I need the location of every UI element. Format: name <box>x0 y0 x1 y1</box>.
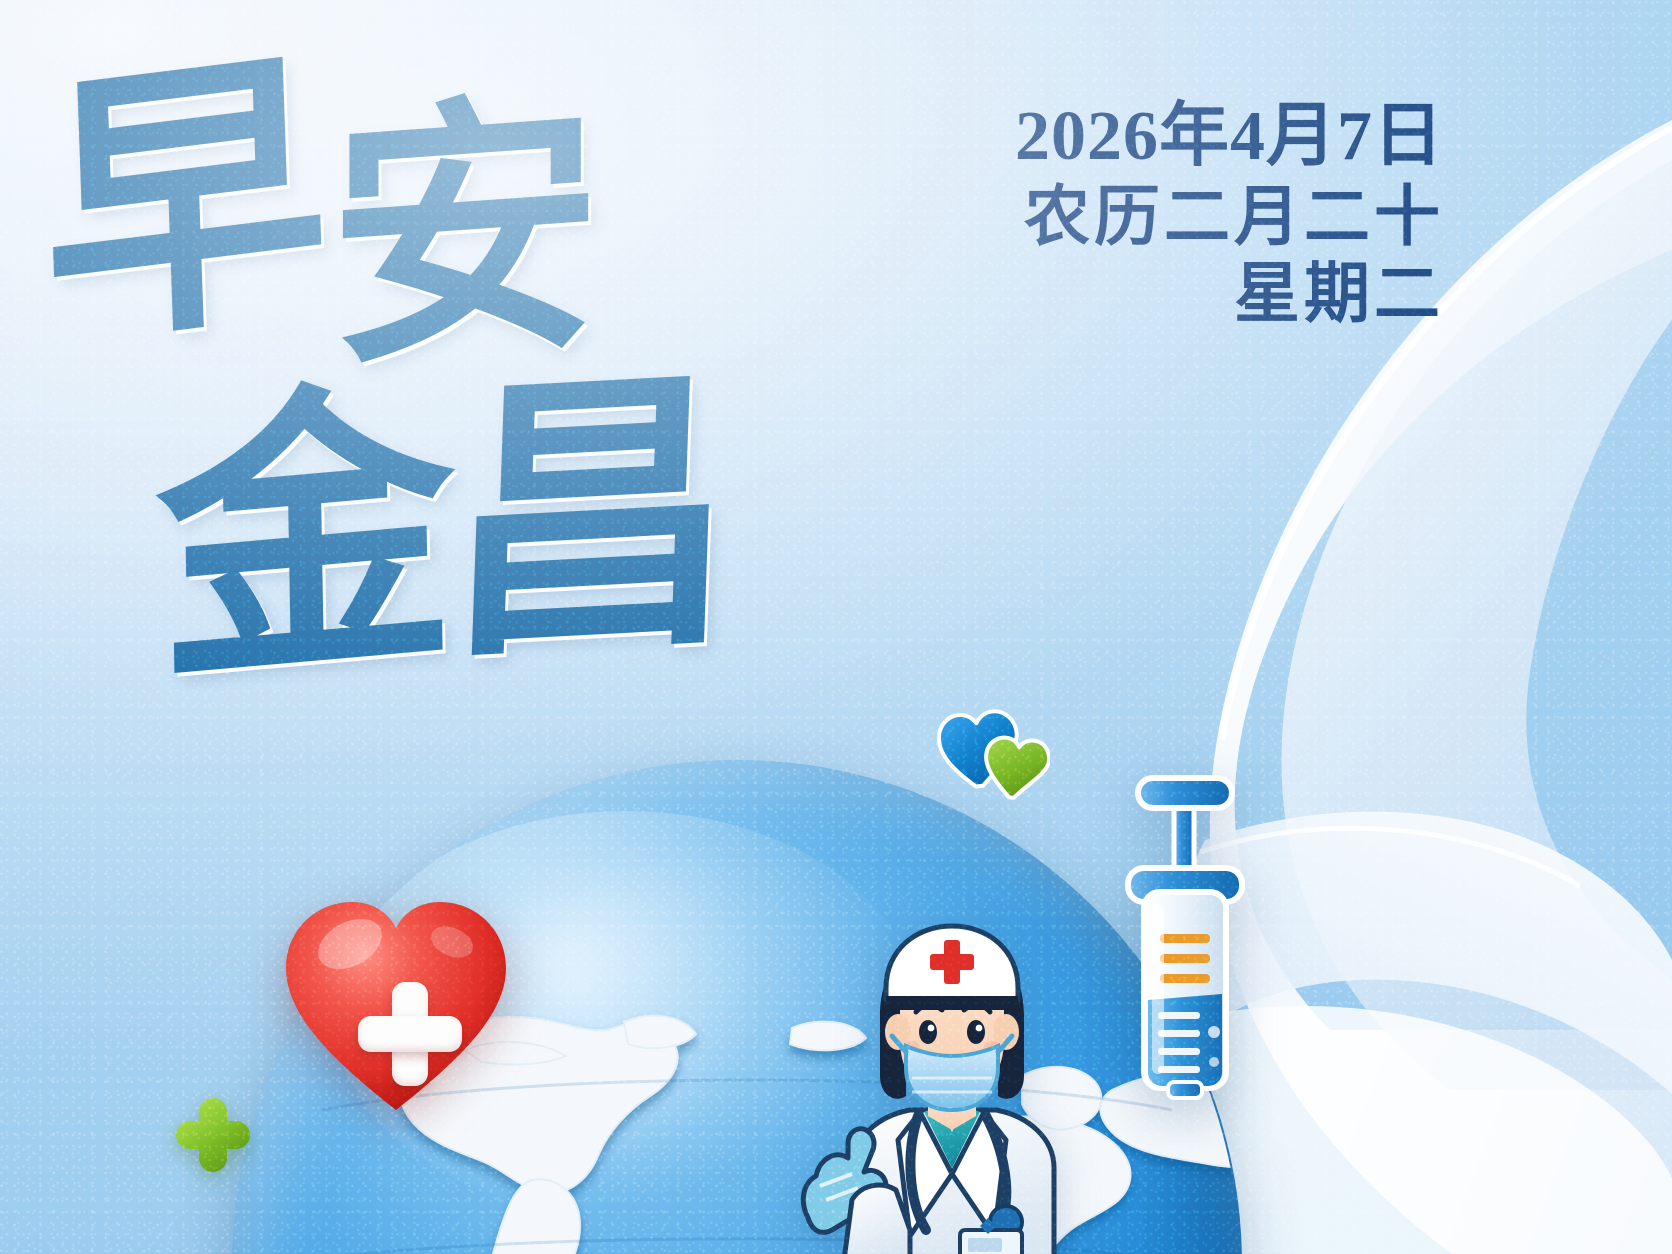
title-char-1: 早 <box>38 40 332 362</box>
syringe-icon <box>1094 764 1274 1104</box>
title-char-2: 安 <box>328 86 601 380</box>
date-weekday: 星期二 <box>1015 256 1444 334</box>
heart-with-medical-cross <box>276 886 516 1116</box>
page-title: 早 安 金 昌 <box>28 34 748 764</box>
date-solar: 2026年4月7日 <box>1015 96 1444 179</box>
title-char-4: 昌 <box>441 364 743 672</box>
greeting-poster: 早 安 金 昌 2026年4月7日 农历二月二十 星期二 <box>0 0 1672 1254</box>
date-lunar: 农历二月二十 <box>1015 179 1444 257</box>
syringe-graduations <box>1160 934 1210 983</box>
green-medical-cross-icon <box>176 1098 250 1172</box>
doctor-character <box>760 900 1140 1254</box>
title-char-3: 金 <box>154 373 458 700</box>
white-cross-icon <box>358 982 462 1086</box>
date-block: 2026年4月7日 农历二月二十 星期二 <box>1015 96 1444 334</box>
